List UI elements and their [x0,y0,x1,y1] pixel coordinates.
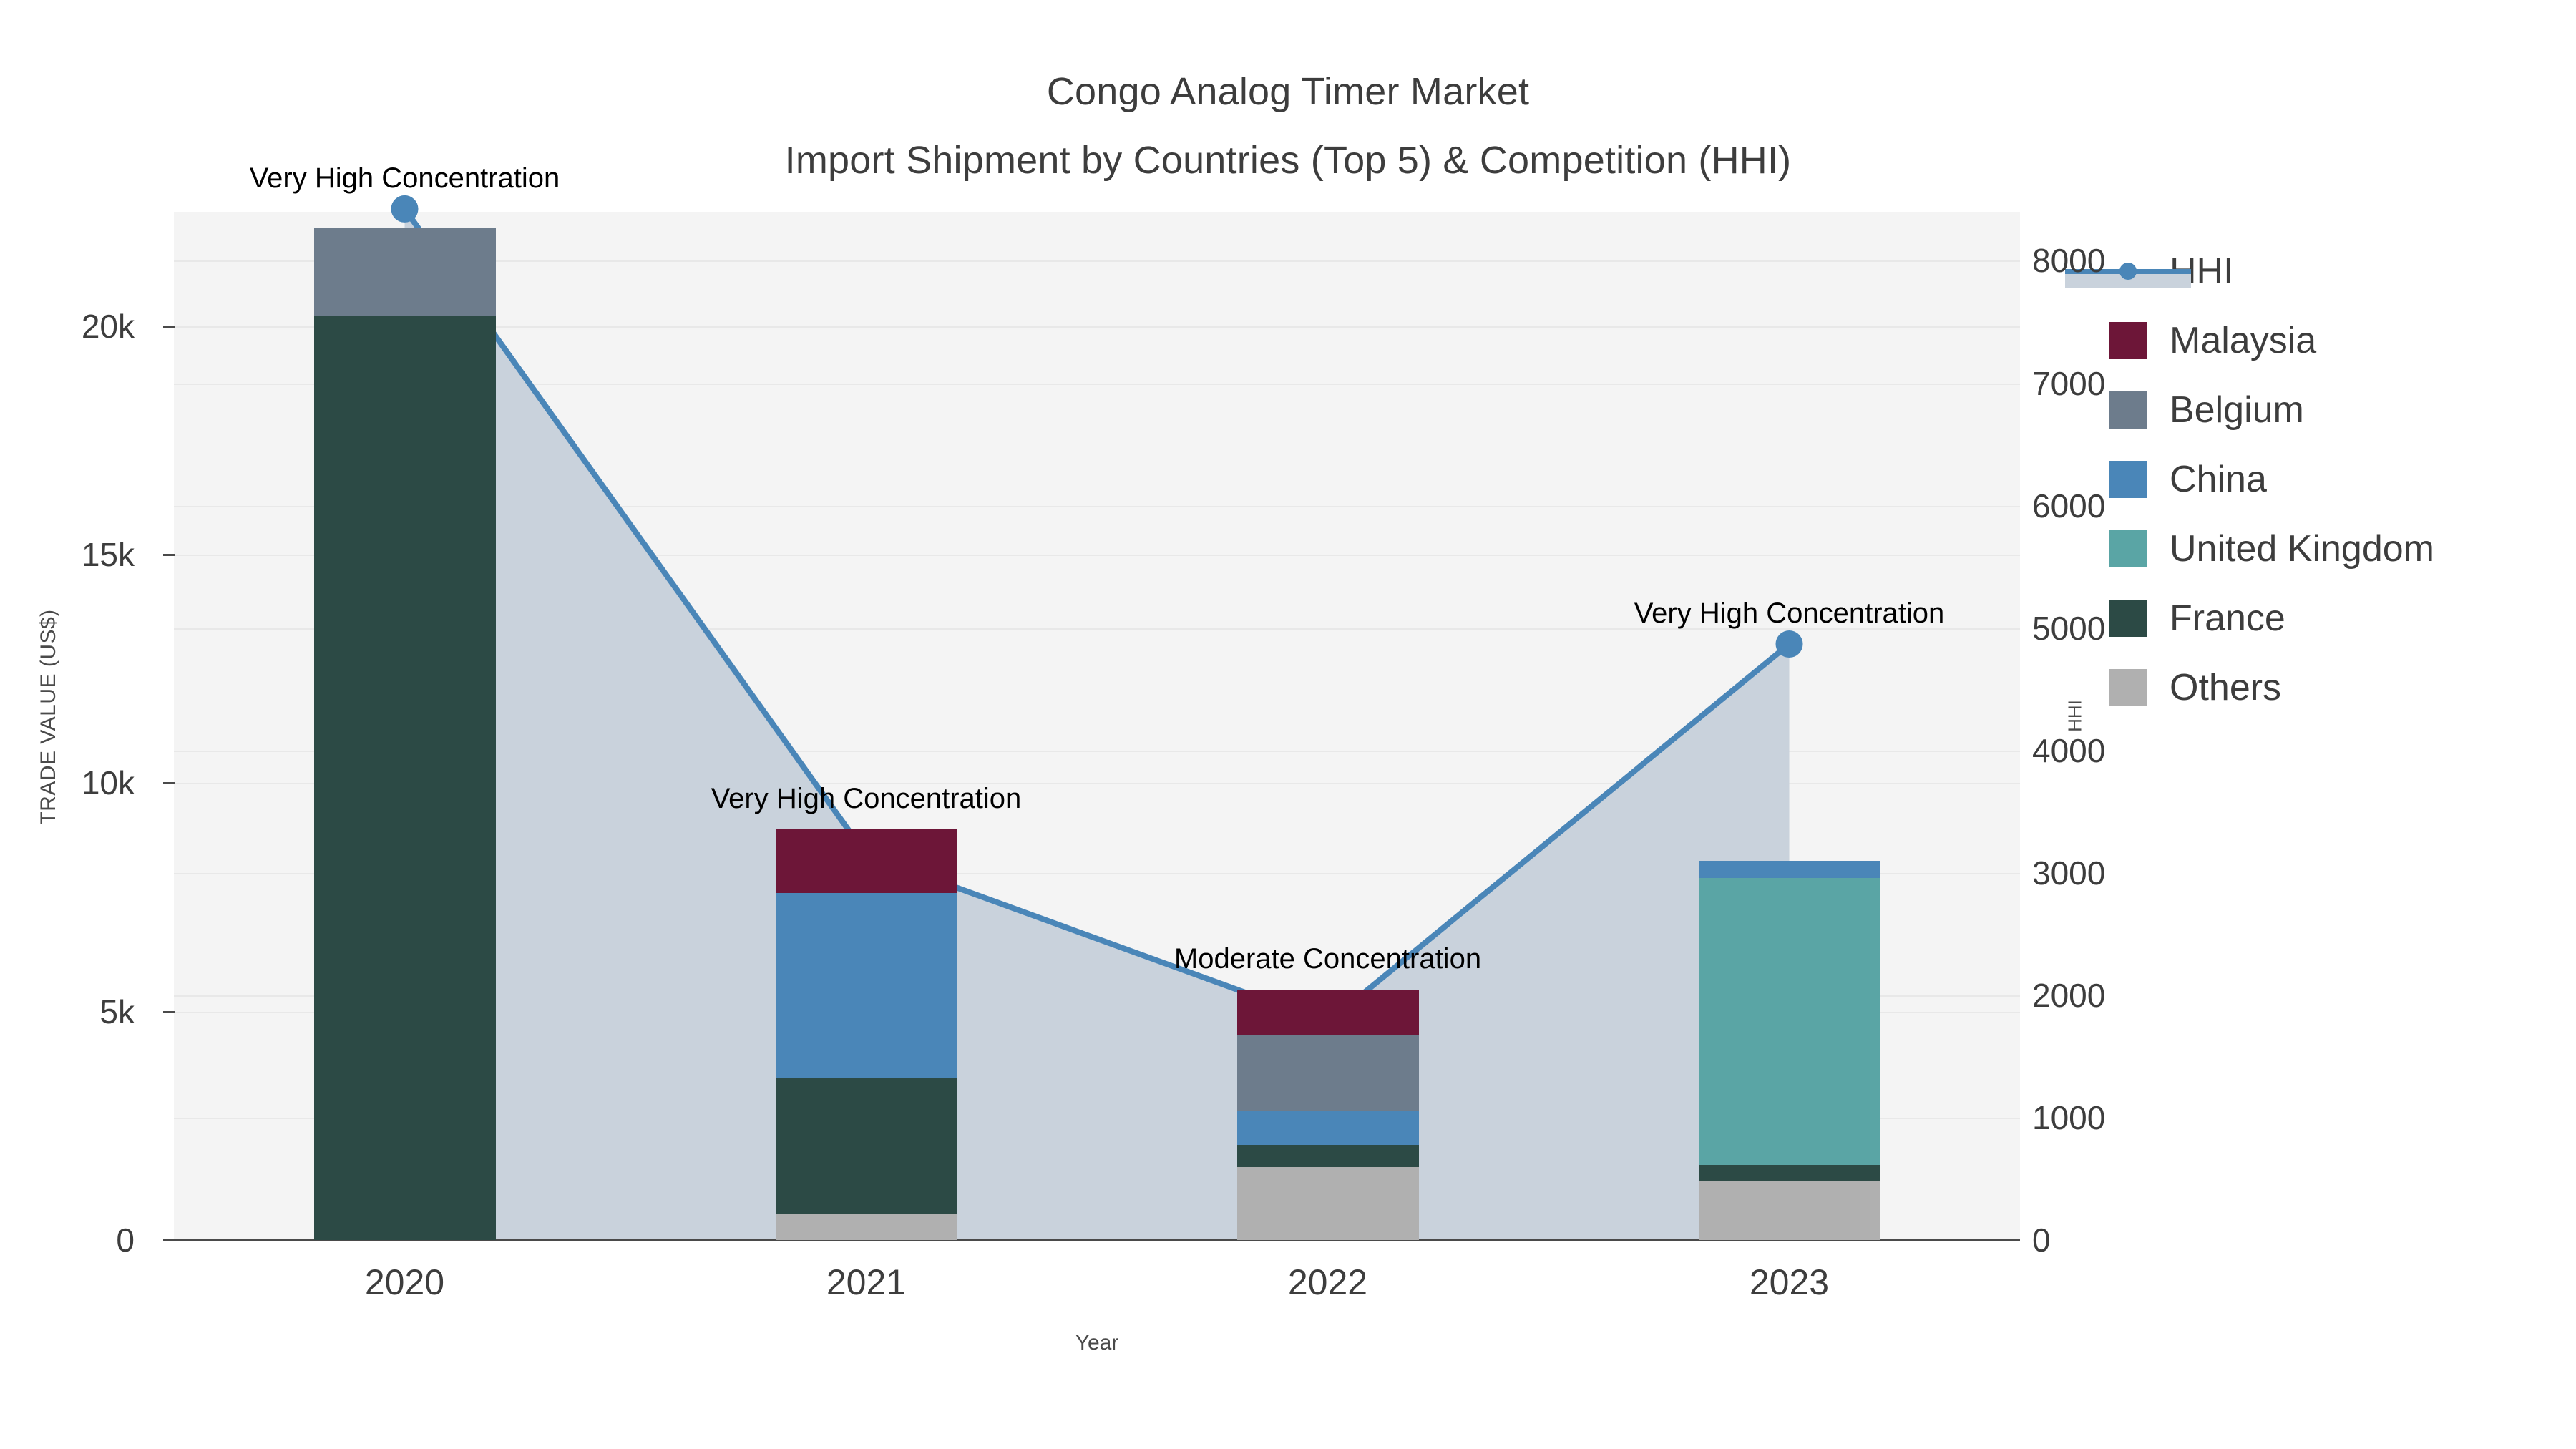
bar-segment[interactable] [1237,990,1419,1035]
y-axis-tick-right: 4000 [2032,734,2318,767]
x-axis-tick: 2021 [723,1261,1010,1304]
legend-swatch-icon [2109,530,2147,567]
x-axis-tick: 2020 [262,1261,548,1304]
bar-segment[interactable] [1699,878,1880,1165]
legend-swatch-icon [2109,322,2147,359]
bar-segment[interactable] [1699,1165,1880,1181]
y-axis-tick-right: 2000 [2032,979,2318,1012]
bar-segment[interactable] [1237,1111,1419,1145]
legend-item[interactable]: Others [2109,653,2567,722]
legend-swatch-icon [2109,669,2147,706]
bar-segment[interactable] [1237,1145,1419,1167]
y-axis-tick-mark [163,782,175,784]
legend-item[interactable]: Malaysia [2109,306,2567,375]
concentration-annotation: Very High Concentration [580,782,1153,815]
concentration-annotation: Very High Concentration [119,162,691,195]
y-axis-tick-right: 1000 [2032,1101,2318,1134]
bar-segment[interactable] [1237,1167,1419,1240]
y-axis-tick-right: 8000 [2032,244,2318,277]
bar-segment[interactable] [314,228,496,316]
y-axis-tick-mark [163,326,175,328]
bar-segment[interactable] [1699,861,1880,878]
x-axis-tick: 2023 [1646,1261,1933,1304]
y-axis-tick-right: 6000 [2032,489,2318,522]
y-axis-tick-left: 5k [0,995,135,1028]
x-axis-label: Year [897,1331,1297,1355]
concentration-annotation: Moderate Concentration [1042,942,1614,975]
y-axis-tick-left: 20k [0,310,135,343]
y-axis-tick-mark [163,1239,175,1241]
concentration-annotation: Very High Concentration [1503,597,2076,630]
chart-figure: Congo Analog Timer Market Import Shipmen… [0,0,2576,1449]
bar-segment[interactable] [776,1078,957,1214]
legend-item-label: United Kingdom [2170,529,2434,569]
y-axis-tick-mark [163,1011,175,1013]
y-axis-tick-mark [163,554,175,556]
bar-segment[interactable] [314,316,496,1240]
x-axis-tick: 2022 [1185,1261,1471,1304]
y-axis-tick-right: 7000 [2032,367,2318,400]
bar-segment[interactable] [776,829,957,893]
bar-segment[interactable] [1699,1181,1880,1240]
bar-segment[interactable] [776,1214,957,1240]
legend-item[interactable]: United Kingdom [2109,514,2567,583]
legend-item-label: Malaysia [2170,321,2316,361]
y-axis-tick-right: 0 [2032,1224,2318,1257]
bar-segment[interactable] [1237,1035,1419,1110]
y-axis-tick-right: 3000 [2032,857,2318,889]
bar-segment[interactable] [776,893,957,1077]
y-axis-label-left: TRADE VALUE (US$) [36,359,61,1075]
legend-item-label: Others [2170,668,2281,708]
chart-legend: HHIMalaysiaBelgiumChinaUnited KingdomFra… [2109,236,2567,722]
y-axis-tick-left: 0 [0,1224,135,1257]
page-title: Congo Analog Timer Market [0,57,2576,126]
y-axis-tick-left: 15k [0,538,135,571]
y-axis-tick-left: 10k [0,766,135,799]
